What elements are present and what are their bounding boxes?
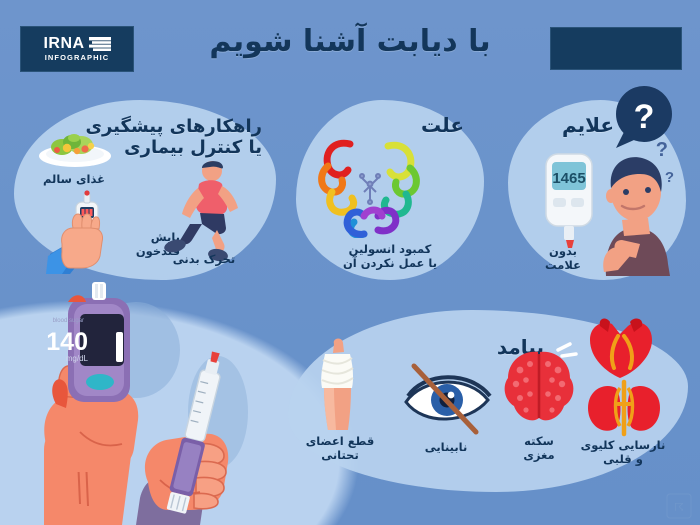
insulin-protein-icon <box>310 126 430 238</box>
card-symptoms-item-0-label: بدون علامت <box>526 244 600 272</box>
card-prevention-item-2-label: تحرک بدنی <box>154 252 254 266</box>
svg-text:blood sugar: blood sugar <box>53 318 84 324</box>
glucometer-icon: 1465 <box>538 148 600 248</box>
infographic-poster: IRNA INFOGRAPHIC با دیابت آشنا شویم راهک… <box>0 0 700 525</box>
hands-illustration: blood sugar 140 mg/dL <box>0 272 290 525</box>
watermark-icon: ☈ <box>666 493 692 519</box>
svg-text:?: ? <box>634 98 655 136</box>
amputated-leg-icon <box>308 336 370 434</box>
heart-shape <box>590 319 652 378</box>
card-outcome-item-1-label: نابینایی <box>394 440 498 454</box>
meter-unit-text: mg/dL <box>66 354 89 363</box>
brain-stroke-icon <box>496 342 582 430</box>
card-prevention-item-0-label: غذای سالم <box>26 172 122 186</box>
card-symptoms: علایم ? ? ? 1465 <box>508 82 700 282</box>
heart-kidney-icon <box>576 316 676 440</box>
card-outcome-item-0-label: قطع اعضای تحتانی <box>290 434 390 462</box>
salad-plate-icon <box>36 120 114 170</box>
glucometer-reading: 1465 <box>552 170 585 187</box>
card-outcome: پیامد قطع اعضای تحتانی نابینایی <box>288 310 688 500</box>
card-cause: علت کمبود انسولین یا <box>296 100 484 280</box>
card-cause-item-0-label: کمبود انسولین یا عمل نکردن آن <box>314 242 466 270</box>
meter-value-text: 140 <box>46 328 88 356</box>
running-person-icon <box>162 158 248 262</box>
crossed-eye-icon <box>400 362 494 436</box>
page-title: با دیابت آشنا شویم <box>0 24 700 59</box>
hands-scene-svg: blood sugar 140 mg/dL <box>0 272 290 525</box>
card-prevention: راهکارهای پیشگیری یا کنترل بیماری غذای س… <box>14 100 276 280</box>
svg-text:☈: ☈ <box>674 502 684 514</box>
card-outcome-item-3-label: نارسایی کلیوی و قلبی <box>560 438 686 466</box>
kidneys-shape <box>588 382 660 434</box>
hand-glucometer-icon <box>40 188 122 274</box>
